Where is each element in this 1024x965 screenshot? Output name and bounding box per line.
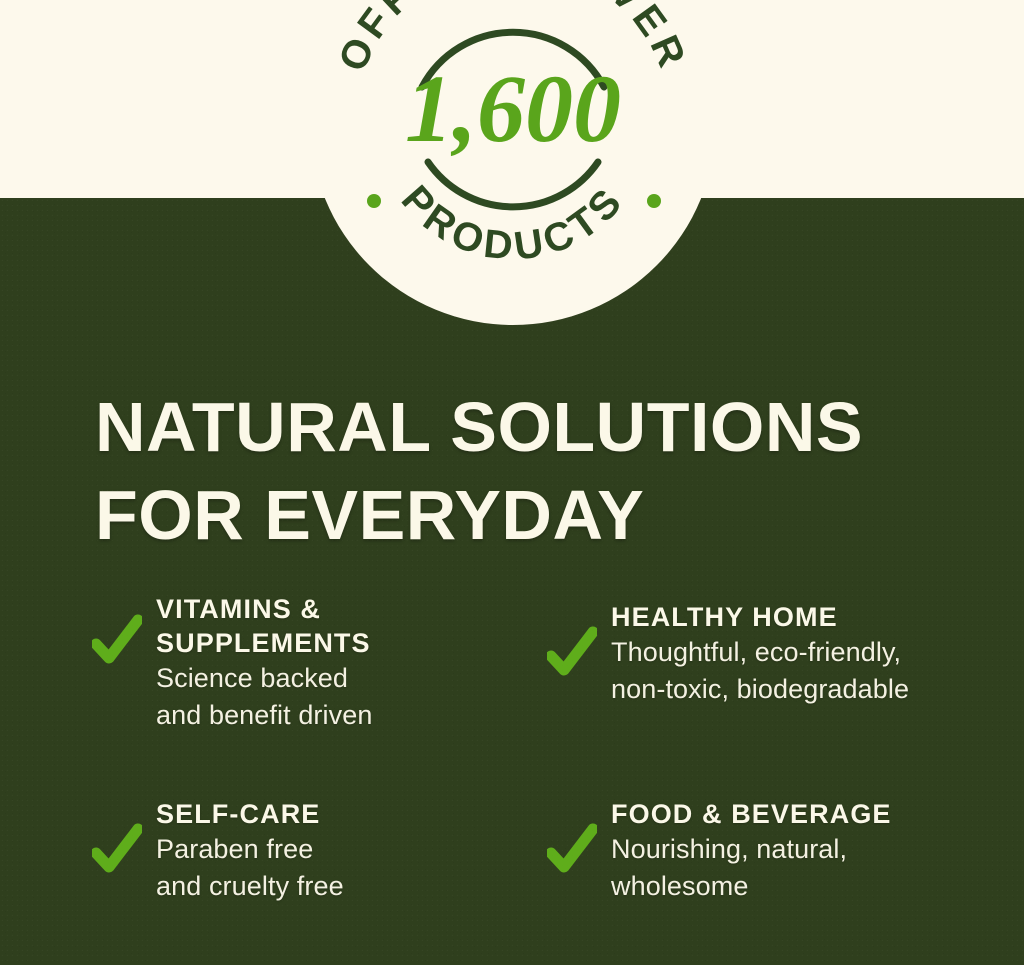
badge-product-count: 1,600 [405, 55, 621, 162]
feature-item-healthy-home: HEALTHY HOME Thoughtful, eco-friendly, n… [547, 592, 1002, 797]
feature-description: Thoughtful, eco-friendly, non-toxic, bio… [611, 634, 909, 708]
feature-title: VITAMINS & SUPPLEMENTS [156, 592, 372, 660]
promo-banner: OFFERING OVER PRODUCTS 1,600 NATURAL SOL… [0, 0, 1024, 965]
badge-arc-bottom-text: PRODUCTS [393, 177, 633, 269]
feature-title: HEALTHY HOME [611, 600, 909, 634]
product-count-badge: OFFERING OVER PRODUCTS 1,600 [310, 0, 716, 325]
badge-dot-left-icon [367, 194, 381, 208]
feature-list: VITAMINS & SUPPLEMENTS Science backed an… [0, 592, 1024, 905]
feature-title: FOOD & BEVERAGE [611, 797, 892, 831]
feature-description: Science backed and benefit driven [156, 660, 372, 734]
feature-description: Paraben free and cruelty free [156, 831, 344, 905]
feature-description: Nourishing, natural, wholesome [611, 831, 892, 905]
page-title: NATURAL SOLUTIONS FOR EVERYDAY [95, 383, 975, 559]
badge-dot-right-icon [647, 194, 661, 208]
checkmark-icon [547, 626, 597, 678]
checkmark-icon [92, 614, 142, 666]
feature-item-food-beverage: FOOD & BEVERAGE Nourishing, natural, who… [547, 797, 1002, 905]
badge-inner-arc-bottom [428, 162, 598, 207]
checkmark-icon [92, 823, 142, 875]
feature-item-vitamins-supplements: VITAMINS & SUPPLEMENTS Science backed an… [92, 592, 547, 797]
feature-item-self-care: SELF-CARE Paraben free and cruelty free [92, 797, 547, 905]
feature-title: SELF-CARE [156, 797, 344, 831]
checkmark-icon [547, 823, 597, 875]
